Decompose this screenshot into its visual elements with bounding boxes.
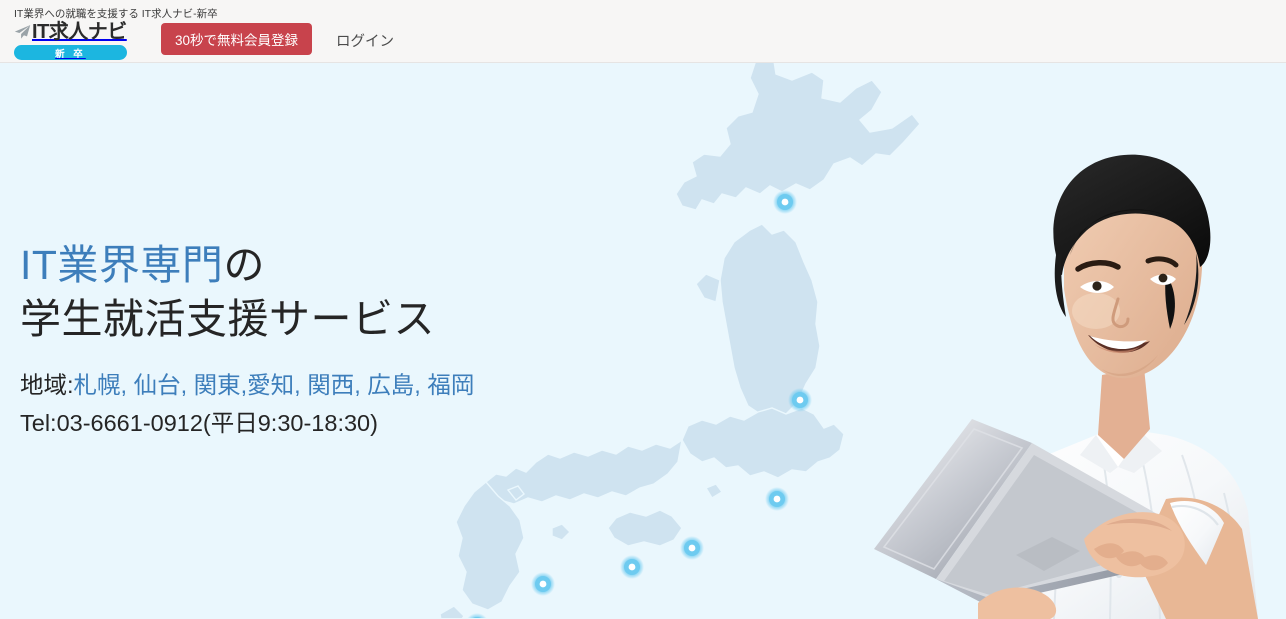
hero-region-cities[interactable]: 札幌, 仙台, 関東,愛知, 関西, 広島, 福岡 — [74, 372, 475, 398]
hero-headline-line1: IT業界専門の — [20, 238, 640, 292]
site-logo-badge: 新 卒 — [14, 45, 127, 60]
hero-copy: IT業界専門の 学生就活支援サービス 地域:札幌, 仙台, 関東,愛知, 関西,… — [20, 238, 640, 442]
paper-plane-icon — [14, 24, 32, 40]
site-logo[interactable]: IT求人ナビ 新 卒 — [14, 21, 146, 60]
hero-contact-block: 地域:札幌, 仙台, 関東,愛知, 関西, 広島, 福岡 Tel:03-6661… — [20, 366, 640, 442]
hero-tel-line: Tel:03-6661-0912(平日9:30-18:30) — [20, 404, 640, 442]
login-link[interactable]: ログイン — [336, 30, 394, 51]
site-tagline: IT業界への就職を支援する IT求人ナビ-新卒 — [14, 6, 218, 21]
hero-headline-suffix: の — [223, 242, 265, 288]
hero-section: IT業界専門の 学生就活支援サービス 地域:札幌, 仙台, 関東,愛知, 関西,… — [0, 63, 1286, 619]
hero-region-label: 地域: — [20, 372, 74, 398]
free-registration-button[interactable]: 30秒で無料会員登録 — [161, 23, 312, 55]
hero-headline-accent: IT業界専門 — [20, 242, 223, 288]
site-header: IT業界への就職を支援する IT求人ナビ-新卒 IT求人ナビ 新 卒 30秒で無… — [0, 0, 1286, 63]
hero-headline-line2: 学生就活支援サービス — [20, 292, 640, 346]
smiling-man-with-laptop-photo — [866, 63, 1286, 619]
hero-region-line: 地域:札幌, 仙台, 関東,愛知, 関西, 広島, 福岡 — [20, 366, 640, 404]
landing-page: IT業界への就職を支援する IT求人ナビ-新卒 IT求人ナビ 新 卒 30秒で無… — [0, 0, 1286, 619]
site-logo-text: IT求人ナビ — [32, 22, 127, 42]
